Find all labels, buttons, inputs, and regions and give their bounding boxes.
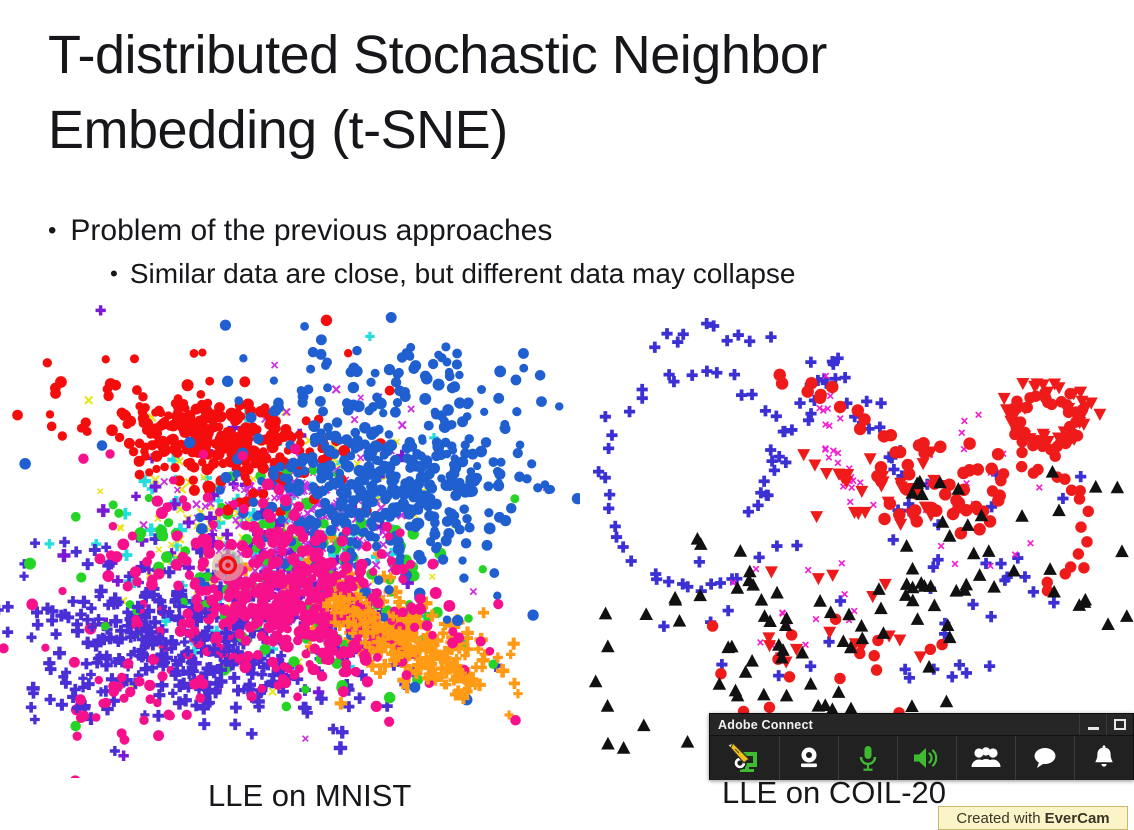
attendees-icon <box>970 746 1002 770</box>
adobe-connect-titlebar[interactable]: Adobe Connect <box>710 714 1133 736</box>
adobe-connect-title: Adobe Connect <box>718 718 813 732</box>
chat-button[interactable] <box>1016 736 1075 780</box>
speaker-icon <box>912 745 942 771</box>
bullet-marker-icon: • <box>110 263 118 285</box>
chat-icon <box>1032 746 1058 770</box>
bullet-list: • Problem of the previous approaches • S… <box>48 208 1088 295</box>
minimize-button[interactable] <box>1079 714 1106 735</box>
minimize-icon <box>1088 727 1099 730</box>
bullet-text: Similar data are close, but different da… <box>130 253 796 295</box>
bullet-text: Problem of the previous approaches <box>70 208 552 253</box>
evercam-brand: EverCam <box>1045 810 1110 827</box>
adobe-connect-widget[interactable]: Adobe Connect <box>709 713 1134 780</box>
evercam-prefix: Created with <box>956 810 1040 827</box>
scatter-plot-lle-coil20-canvas <box>560 298 1134 778</box>
webcam-button[interactable] <box>780 736 839 780</box>
bullet-marker-icon: • <box>48 219 56 243</box>
share-screen-pencil-icon <box>723 742 765 774</box>
caption-lle-coil20: LLE on COIL-20 <box>722 775 946 811</box>
bullet-item-1: • Problem of the previous approaches <box>48 208 1088 253</box>
restore-button[interactable] <box>1106 714 1133 735</box>
attendees-button[interactable] <box>957 736 1016 780</box>
scatter-plot-lle-coil20 <box>560 298 1134 778</box>
share-screen-button[interactable] <box>710 736 780 780</box>
notification-bell-button[interactable] <box>1075 736 1133 780</box>
speaker-button[interactable] <box>898 736 957 780</box>
adobe-connect-toolbar <box>710 736 1133 780</box>
notification-bell-icon <box>1092 745 1116 771</box>
page-title: T-distributed Stochastic Neighbor Embedd… <box>48 18 1088 167</box>
restore-icon <box>1114 719 1126 730</box>
microphone-button[interactable] <box>839 736 898 780</box>
bullet-item-2: • Similar data are close, but different … <box>110 253 1088 295</box>
scatter-plot-lle-mnist-canvas <box>0 298 580 778</box>
evercam-watermark: Created with EverCam <box>938 806 1128 830</box>
window-buttons <box>1079 714 1133 735</box>
microphone-icon <box>857 744 879 772</box>
scatter-plot-lle-mnist <box>0 298 580 778</box>
webcam-icon <box>796 745 822 771</box>
caption-lle-mnist: LLE on MNIST <box>208 778 411 814</box>
